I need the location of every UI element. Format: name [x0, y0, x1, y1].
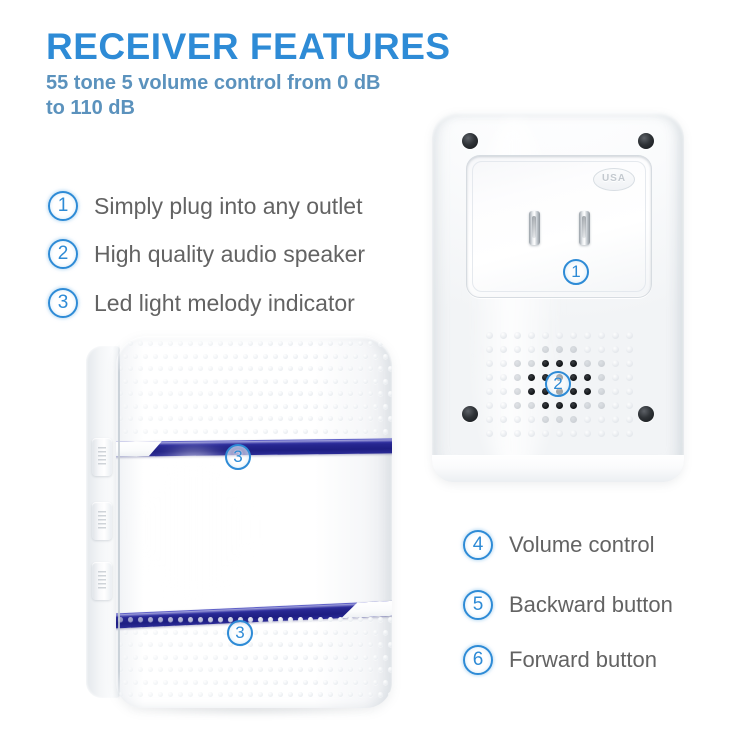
- grille-hole: [584, 346, 591, 353]
- perforation-dimple: [343, 429, 348, 434]
- grille-hole: [528, 346, 535, 353]
- perforation-dimple: [253, 404, 258, 409]
- perforation-dimple: [273, 630, 278, 635]
- perforation-dimple: [238, 667, 243, 672]
- perforation-dimple: [353, 379, 358, 384]
- perforation-dimple: [353, 630, 358, 635]
- grille-hole: [612, 374, 619, 381]
- perforation-dimple: [218, 642, 223, 647]
- perforation-dimple: [383, 680, 388, 685]
- perforation-dimple: [353, 404, 358, 409]
- perforation-dimple: [248, 366, 253, 371]
- perforation-dimple: [273, 655, 278, 660]
- grille-hole: [500, 332, 507, 339]
- perforation-dimple: [328, 341, 333, 346]
- perforation-dimple: [283, 429, 288, 434]
- perforation-dimple: [303, 379, 308, 384]
- perforation-dimple: [223, 354, 228, 359]
- grille-hole: [570, 360, 577, 367]
- perforation-dimple: [183, 404, 188, 409]
- perforation-dimple: [193, 404, 198, 409]
- perforation-dimple: [178, 617, 183, 622]
- perforation-dimple: [333, 655, 338, 660]
- grille-hole: [570, 374, 577, 381]
- grille-hole: [626, 360, 633, 367]
- perforation-dimple: [138, 416, 143, 421]
- grille-hole: [528, 374, 535, 381]
- grille-hole: [500, 374, 507, 381]
- perforation-dimple: [328, 617, 333, 622]
- perforation-dimple: [333, 354, 338, 359]
- perforation-dimple: [348, 416, 353, 421]
- perforation-dimple: [328, 366, 333, 371]
- usa-marking: USA: [593, 168, 635, 191]
- perforation-dimple: [128, 642, 133, 647]
- perforation-dimple: [128, 391, 133, 396]
- perforation-dimple: [183, 680, 188, 685]
- perforation-dimple: [148, 642, 153, 647]
- perforation-dimple: [228, 692, 233, 697]
- perforation-dimple: [368, 692, 373, 697]
- perforation-dimple: [258, 642, 263, 647]
- perforation-dimple: [298, 667, 303, 672]
- grille-hole: [612, 360, 619, 367]
- perforation-dimple: [183, 655, 188, 660]
- perforation-dimple: [378, 617, 383, 622]
- grille-hole: [598, 346, 605, 353]
- grille-hole: [528, 360, 535, 367]
- perforation-dimple: [388, 617, 392, 622]
- grille-hole: [514, 416, 521, 423]
- grille-hole: [584, 388, 591, 395]
- perforation-dimple: [353, 429, 358, 434]
- perforation-dimple: [218, 366, 223, 371]
- perforation-dimple: [303, 429, 308, 434]
- perforation-dimple: [358, 667, 363, 672]
- perforation-dimple: [333, 680, 338, 685]
- perforation-dimple: [308, 341, 313, 346]
- perforation-dimple: [358, 642, 363, 647]
- perforation-dimple: [148, 341, 153, 346]
- feature-label-5: Backward button: [509, 592, 673, 618]
- perforation-dimple: [148, 617, 153, 622]
- perforation-dimple: [138, 667, 143, 672]
- perforation-dimple: [128, 366, 133, 371]
- perforation-dimple: [383, 379, 388, 384]
- perforation-dimple: [163, 680, 168, 685]
- perforation-dimple: [168, 692, 173, 697]
- screw-recess-bottom-left: [462, 406, 478, 422]
- perforation-dimple: [248, 617, 253, 622]
- perforation-dimple: [278, 692, 283, 697]
- perforation-dimple: [263, 429, 268, 434]
- perforation-dimple: [358, 366, 363, 371]
- perforation-dimple: [203, 354, 208, 359]
- chime-front-face: [116, 336, 392, 708]
- grille-hole: [528, 430, 535, 437]
- perforation-dimple: [133, 354, 138, 359]
- perforation-dimple: [193, 429, 198, 434]
- perforation-dimple: [243, 429, 248, 434]
- perforation-dimple: [253, 655, 258, 660]
- perforation-dimple: [188, 341, 193, 346]
- grille-hole: [598, 416, 605, 423]
- doorbell-chime-image: 3 3: [86, 336, 392, 708]
- grille-hole: [598, 332, 605, 339]
- perforation-dimple: [128, 416, 133, 421]
- perforation-dimple: [123, 680, 128, 685]
- perforation-dimple: [188, 692, 193, 697]
- grille-hole: [598, 402, 605, 409]
- receiver-bottom-lip: [432, 455, 684, 482]
- perforation-dimple: [188, 617, 193, 622]
- perforation-dimple: [153, 429, 158, 434]
- grille-hole: [514, 374, 521, 381]
- perforation-dimple: [188, 416, 193, 421]
- perforation-dimple: [138, 341, 143, 346]
- perforation-dimple: [238, 391, 243, 396]
- perforation-dimple: [283, 354, 288, 359]
- perforation-dimple: [378, 667, 383, 672]
- perforation-dimple: [153, 630, 158, 635]
- perforation-dimple: [178, 667, 183, 672]
- grille-hole: [584, 402, 591, 409]
- screw-recess-bottom-right: [638, 406, 654, 422]
- perforation-dimple: [203, 429, 208, 434]
- perforation-dimple: [323, 429, 328, 434]
- grille-hole: [500, 360, 507, 367]
- perforation-dimple: [318, 667, 323, 672]
- perforation-dimple: [288, 642, 293, 647]
- perforation-dimple: [208, 617, 213, 622]
- perforation-dimple: [363, 354, 368, 359]
- perforation-dimple: [388, 692, 392, 697]
- perforation-dimple: [198, 617, 203, 622]
- perforation-dimple: [163, 354, 168, 359]
- grille-hole: [570, 332, 577, 339]
- perforation-dimple: [208, 416, 213, 421]
- perforation-dimple: [338, 642, 343, 647]
- perforation-dimple: [173, 655, 178, 660]
- volume-control-button[interactable]: [92, 438, 112, 476]
- perforation-dimple: [148, 366, 153, 371]
- upper-led-strip: [116, 438, 392, 457]
- perforation-dimple: [158, 341, 163, 346]
- perforation-dimple: [268, 667, 273, 672]
- product-feature-infographic: RECEIVER FEATURES 55 tone 5 volume contr…: [0, 0, 750, 750]
- grille-hole: [486, 402, 493, 409]
- grille-hole: [570, 402, 577, 409]
- grille-hole: [556, 402, 563, 409]
- perforation-dimple: [373, 404, 378, 409]
- perforation-dimple: [253, 379, 258, 384]
- perforation-dimple: [373, 379, 378, 384]
- perforation-dimple: [143, 354, 148, 359]
- perforation-dimple: [228, 391, 233, 396]
- perforation-dimple: [338, 341, 343, 346]
- perforation-dimple: [258, 667, 263, 672]
- perforation-dimple: [148, 692, 153, 697]
- perforation-dimple: [123, 429, 128, 434]
- perforation-dimple: [168, 617, 173, 622]
- perforation-dimple: [383, 354, 388, 359]
- perforation-dimple: [293, 354, 298, 359]
- screw-recess-top-right: [638, 133, 654, 149]
- grille-hole: [528, 402, 535, 409]
- perforation-dimple: [283, 404, 288, 409]
- perforation-dimple: [218, 341, 223, 346]
- perforation-dimple: [268, 692, 273, 697]
- perforation-dimple: [268, 366, 273, 371]
- perforation-dimple: [258, 617, 263, 622]
- perforation-dimple: [168, 391, 173, 396]
- perforation-dimple: [223, 655, 228, 660]
- perforation-dimple: [153, 354, 158, 359]
- perforation-dimple: [173, 379, 178, 384]
- perforation-dimple: [358, 391, 363, 396]
- feature-item-1: 1 Simply plug into any outlet: [48, 191, 363, 221]
- perforation-dimple: [318, 617, 323, 622]
- perforation-dimple: [313, 630, 318, 635]
- grille-hole: [556, 346, 563, 353]
- number-badge-2: 2: [48, 239, 78, 269]
- grille-hole: [500, 402, 507, 409]
- perforation-dimple: [178, 341, 183, 346]
- perforation-dimple: [273, 429, 278, 434]
- perforation-dimple: [248, 667, 253, 672]
- perforation-dimple: [238, 692, 243, 697]
- grille-hole: [486, 388, 493, 395]
- perforation-dimple: [318, 391, 323, 396]
- perforation-dimple: [308, 391, 313, 396]
- perforation-dimple: [368, 341, 373, 346]
- perforation-dimple: [263, 680, 268, 685]
- plug-prong-right: [579, 211, 590, 245]
- perforation-dimple: [238, 416, 243, 421]
- perforation-dimple: [183, 429, 188, 434]
- perforation-dimple: [268, 391, 273, 396]
- perforation-dimple: [283, 680, 288, 685]
- perforation-dimple: [138, 391, 143, 396]
- grille-hole: [626, 374, 633, 381]
- perforation-dimple: [163, 379, 168, 384]
- perforation-dimple: [338, 416, 343, 421]
- perforation-dimple: [258, 692, 263, 697]
- perforation-dimple: [143, 630, 148, 635]
- perforation-dimple: [263, 379, 268, 384]
- perforation-dimple: [198, 366, 203, 371]
- feature-label-6: Forward button: [509, 647, 657, 673]
- perforation-dimple: [233, 404, 238, 409]
- plug-prong-left: [529, 211, 540, 245]
- page-subtitle: 55 tone 5 volume control from 0 dB to 11…: [46, 71, 386, 121]
- perforation-dimple: [343, 354, 348, 359]
- perforation-dimple: [333, 630, 338, 635]
- perforation-dimple: [208, 366, 213, 371]
- backward-button[interactable]: [92, 502, 112, 540]
- chime-lower-perforation: [116, 612, 392, 708]
- feature-item-4: 4 Volume control: [463, 530, 655, 560]
- perforation-dimple: [283, 655, 288, 660]
- perforation-dimple: [388, 341, 392, 346]
- perforation-dimple: [158, 391, 163, 396]
- perforation-dimple: [328, 692, 333, 697]
- perforation-dimple: [248, 416, 253, 421]
- perforation-dimple: [273, 379, 278, 384]
- chime-middle-highlight: [133, 454, 254, 604]
- perforation-dimple: [138, 617, 143, 622]
- perforation-dimple: [178, 391, 183, 396]
- perforation-dimple: [303, 404, 308, 409]
- perforation-dimple: [293, 429, 298, 434]
- grille-hole: [542, 360, 549, 367]
- perforation-dimple: [158, 642, 163, 647]
- perforation-dimple: [388, 366, 392, 371]
- grille-hole: [570, 388, 577, 395]
- perforation-dimple: [388, 667, 392, 672]
- perforation-dimple: [223, 379, 228, 384]
- perforation-dimple: [228, 416, 233, 421]
- perforation-dimple: [313, 354, 318, 359]
- perforation-dimple: [383, 655, 388, 660]
- perforation-dimple: [313, 680, 318, 685]
- perforation-dimple: [263, 354, 268, 359]
- grille-hole: [500, 430, 507, 437]
- perforation-dimple: [288, 416, 293, 421]
- perforation-dimple: [348, 667, 353, 672]
- perforation-dimple: [328, 391, 333, 396]
- perforation-dimple: [138, 642, 143, 647]
- perforation-dimple: [373, 354, 378, 359]
- grille-hole: [626, 332, 633, 339]
- grille-hole: [556, 332, 563, 339]
- perforation-dimple: [253, 429, 258, 434]
- perforation-dimple: [378, 692, 383, 697]
- perforation-dimple: [163, 630, 168, 635]
- grille-hole: [500, 388, 507, 395]
- perforation-dimple: [153, 379, 158, 384]
- perforation-dimple: [273, 680, 278, 685]
- perforation-dimple: [313, 429, 318, 434]
- perforation-dimple: [358, 617, 363, 622]
- perforation-dimple: [348, 341, 353, 346]
- perforation-dimple: [138, 366, 143, 371]
- grille-hole: [500, 346, 507, 353]
- perforation-dimple: [203, 655, 208, 660]
- perforation-dimple: [123, 655, 128, 660]
- perforation-dimple: [328, 667, 333, 672]
- plug-in-receiver-image: USA 1 2: [432, 112, 684, 482]
- grille-hole: [584, 430, 591, 437]
- perforation-dimple: [233, 680, 238, 685]
- perforation-dimple: [143, 680, 148, 685]
- perforation-dimple: [373, 680, 378, 685]
- perforation-dimple: [163, 655, 168, 660]
- perforation-dimple: [253, 354, 258, 359]
- feature-label-4: Volume control: [509, 532, 655, 558]
- perforation-dimple: [258, 391, 263, 396]
- perforation-dimple: [153, 680, 158, 685]
- grille-hole: [486, 374, 493, 381]
- perforation-dimple: [318, 416, 323, 421]
- perforation-dimple: [278, 642, 283, 647]
- perforation-dimple: [288, 366, 293, 371]
- perforation-dimple: [128, 692, 133, 697]
- grille-hole: [514, 346, 521, 353]
- perforation-dimple: [273, 404, 278, 409]
- perforation-dimple: [263, 404, 268, 409]
- perforation-dimple: [168, 366, 173, 371]
- perforation-dimple: [278, 341, 283, 346]
- perforation-dimple: [158, 667, 163, 672]
- perforation-dimple: [228, 341, 233, 346]
- photo-marker-3-lower: 3: [227, 620, 253, 646]
- perforation-dimple: [348, 617, 353, 622]
- perforation-dimple: [218, 692, 223, 697]
- perforation-dimple: [298, 366, 303, 371]
- perforation-dimple: [348, 642, 353, 647]
- perforation-dimple: [188, 366, 193, 371]
- grille-hole: [598, 360, 605, 367]
- perforation-dimple: [293, 630, 298, 635]
- perforation-dimple: [308, 642, 313, 647]
- perforation-dimple: [208, 642, 213, 647]
- perforation-dimple: [133, 404, 138, 409]
- perforation-dimple: [203, 680, 208, 685]
- perforation-dimple: [313, 655, 318, 660]
- grille-hole: [486, 346, 493, 353]
- perforation-dimple: [298, 692, 303, 697]
- forward-button[interactable]: [92, 562, 112, 600]
- perforation-dimple: [368, 642, 373, 647]
- chime-body-seam: [118, 344, 120, 700]
- perforation-dimple: [198, 642, 203, 647]
- perforation-dimple: [293, 404, 298, 409]
- number-badge-5: 5: [463, 590, 493, 620]
- number-badge-4: 4: [463, 530, 493, 560]
- perforation-dimple: [363, 429, 368, 434]
- perforation-dimple: [158, 366, 163, 371]
- feature-item-6: 6 Forward button: [463, 645, 657, 675]
- perforation-dimple: [123, 379, 128, 384]
- perforation-dimple: [123, 630, 128, 635]
- grille-hole: [570, 416, 577, 423]
- perforation-dimple: [143, 429, 148, 434]
- perforation-dimple: [138, 692, 143, 697]
- perforation-dimple: [268, 642, 273, 647]
- perforation-dimple: [258, 416, 263, 421]
- plug-panel: USA: [466, 155, 652, 298]
- perforation-dimple: [153, 655, 158, 660]
- grille-hole: [612, 416, 619, 423]
- perforation-dimple: [238, 341, 243, 346]
- perforation-dimple: [133, 429, 138, 434]
- perforation-dimple: [333, 429, 338, 434]
- perforation-dimple: [173, 354, 178, 359]
- perforation-dimple: [198, 667, 203, 672]
- perforation-dimple: [323, 379, 328, 384]
- grille-hole: [584, 332, 591, 339]
- perforation-dimple: [343, 680, 348, 685]
- perforation-dimple: [193, 630, 198, 635]
- perforation-dimple: [323, 404, 328, 409]
- grille-hole: [486, 416, 493, 423]
- perforation-dimple: [173, 680, 178, 685]
- number-badge-1: 1: [48, 191, 78, 221]
- perforation-dimple: [213, 404, 218, 409]
- perforation-dimple: [198, 341, 203, 346]
- grille-hole: [514, 402, 521, 409]
